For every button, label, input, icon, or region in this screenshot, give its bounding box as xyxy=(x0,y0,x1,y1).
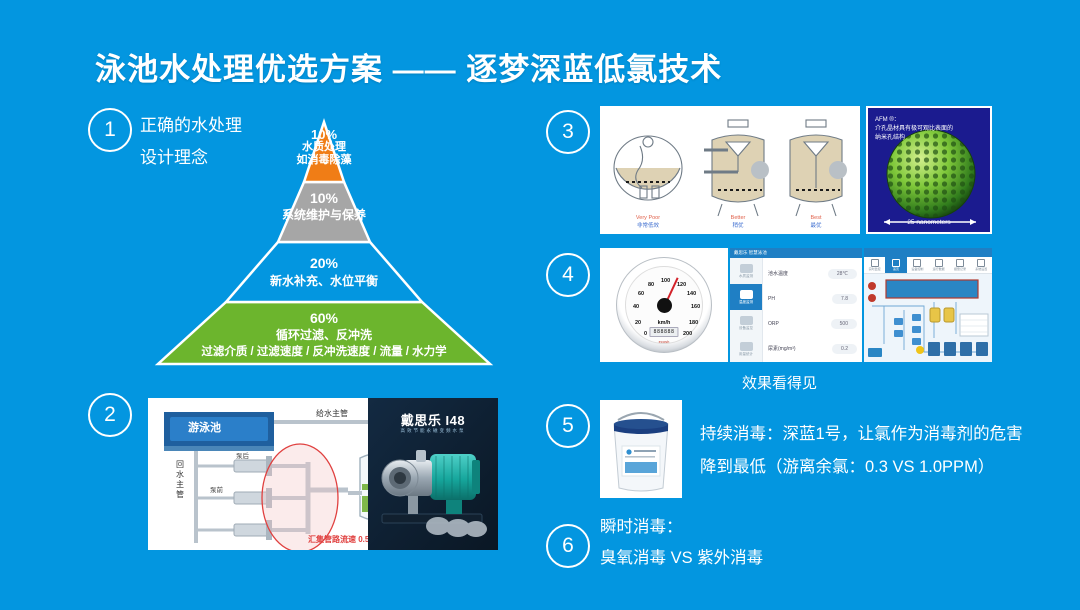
gear-icon xyxy=(977,259,985,267)
controller-side-item-3[interactable]: 用量统计 xyxy=(730,336,762,362)
scada-system-image: 实时监控 首页 设备控制 运行数据 报警记录 系统设置 xyxy=(864,248,992,362)
supply-main-label: 给水主管 xyxy=(316,408,348,419)
controller-row-key: ORP xyxy=(768,321,779,327)
controller-row: PH 7.8 xyxy=(768,286,857,311)
gauge-tick-0: 0 xyxy=(644,331,647,337)
step-number-5[interactable]: 5 xyxy=(546,404,590,448)
chart-icon xyxy=(740,342,753,351)
controller-row-key: PH xyxy=(768,296,775,302)
controller-side-label-3: 用量统计 xyxy=(739,352,753,357)
step-number-1[interactable]: 1 xyxy=(88,108,132,152)
afm-nanostructure-image: AFM ®： 介孔晶材具有极可观比表面的 纳米孔结构 25 nanometers xyxy=(866,106,992,234)
panel6-text: 瞬时消毒： 臭氧消毒 VS 紫外消毒 xyxy=(600,512,763,574)
panel5-line1: 持续消毒：深蓝1号，让氯作为消毒剂的危害 xyxy=(700,418,1023,451)
controller-header: 戴思乐 智慧泳池 xyxy=(730,248,862,258)
gauge-brand-label: ecosh xyxy=(617,339,711,344)
gauge-unit-label: km/h xyxy=(617,320,711,326)
page-title: 泳池水处理优选方案 —— 逐梦深蓝低氯技术 xyxy=(95,44,722,89)
panel4-caption: 效果看得见 xyxy=(742,372,817,393)
gauge-tick-160: 160 xyxy=(691,304,700,310)
pump-brand-label: 戴思乐 I48 xyxy=(368,410,498,429)
controller-row-key: 池水温度 xyxy=(768,270,788,277)
scada-tab-bar[interactable]: 实时监控 首页 设备控制 运行数据 报警记录 系统设置 xyxy=(864,257,992,274)
gauge-hub xyxy=(657,298,672,313)
controller-side-item-0[interactable]: 水质监测 xyxy=(730,258,762,284)
gauge-tick-120: 120 xyxy=(677,282,686,288)
thermometer-icon xyxy=(740,290,753,299)
step-number-6[interactable]: 6 xyxy=(546,524,590,568)
pool-label: 游泳池 xyxy=(188,419,221,435)
scada-tab-label-0: 实时监控 xyxy=(869,267,881,271)
filter-label-best: Best 最优 xyxy=(786,214,846,230)
filter-label-very-poor: Very Poor 非常低效 xyxy=(618,214,678,230)
step-number-2-text: 2 xyxy=(104,403,116,427)
gauge-tick-100: 100 xyxy=(661,278,670,284)
filter-label-best-en: Best xyxy=(786,214,846,222)
afm-desc-line2: 纳米孔结构 xyxy=(875,134,985,143)
gauge-dial: 20 40 60 80 100 120 140 160 180 200 0 km… xyxy=(616,257,712,353)
controller-row-value: 7.8 xyxy=(832,294,857,304)
filter-label-better-cn: 稍优 xyxy=(708,222,768,230)
scada-tab-2[interactable]: 设备控制 xyxy=(907,257,928,273)
scada-tab-3[interactable]: 运行数据 xyxy=(928,257,949,273)
disinfectant-bucket-image xyxy=(600,400,682,498)
scada-tab-label-2: 设备控制 xyxy=(911,267,923,271)
filter-label-better-en: Better xyxy=(708,214,768,222)
scada-tab-label-5: 系统设置 xyxy=(975,267,987,271)
monitor-icon xyxy=(871,259,879,267)
controller-side-item-1[interactable]: 温度监测 xyxy=(730,284,762,310)
scada-tab-5[interactable]: 系统设置 xyxy=(971,257,992,273)
gauge-odometer: 888888 xyxy=(649,327,678,337)
afm-desc-line1: 介孔晶材具有极可观比表面的 xyxy=(875,125,985,134)
slide-root: 泳池水处理优选方案 —— 逐梦深蓝低氯技术 1 正确的水处理 设计理念 10% … xyxy=(0,0,1080,610)
device-icon xyxy=(740,316,753,325)
pump-product-image: 戴思乐 I48 高效节能永磁变频水泵 xyxy=(368,398,498,550)
controller-row-key: 尿素(mg/m³) xyxy=(768,345,796,352)
step-number-2[interactable]: 2 xyxy=(88,393,132,437)
scada-process-diagram xyxy=(864,274,992,362)
step-number-1-text: 1 xyxy=(104,118,116,142)
panel6-line2: 臭氧消毒 VS 紫外消毒 xyxy=(600,543,763,574)
water-treatment-pyramid: 10% 水质处理 如消毒除藻 10% 系统维护与保养 20% 新水补充、水位平衡… xyxy=(148,112,500,374)
gauge-tick-140: 140 xyxy=(687,291,696,297)
controller-body: 水质监测 温度监测 设备监控 用量统计 池水温度 28℃ xyxy=(730,258,862,362)
gauge-tick-200: 200 xyxy=(683,331,692,337)
list-icon xyxy=(935,259,943,267)
alarm-icon xyxy=(956,259,964,267)
controller-row: 尿素(mg/m³) 0.2 xyxy=(768,336,857,361)
return-main-label: 回水主管 xyxy=(176,460,185,500)
step-number-3-text: 3 xyxy=(562,120,574,144)
scada-tab-4[interactable]: 报警记录 xyxy=(949,257,970,273)
filter-label-very-poor-en: Very Poor xyxy=(618,214,678,222)
filter-label-better: Better 稍优 xyxy=(708,214,768,230)
controller-row-value: 500 xyxy=(831,319,857,329)
speedometer-gauge-image: 20 40 60 80 100 120 140 160 180 200 0 km… xyxy=(600,248,728,362)
pump-after-label: 泵后 xyxy=(236,450,249,460)
pump-brand-sub-label: 高效节能永磁变频水泵 xyxy=(368,428,498,434)
scada-tab-label-3: 运行数据 xyxy=(933,267,945,271)
scada-tab-1[interactable]: 首页 xyxy=(885,257,906,273)
step-number-4-text: 4 xyxy=(562,263,574,287)
monitor-icon xyxy=(740,264,753,273)
afm-description: AFM ®： 介孔晶材具有极可观比表面的 纳米孔结构 xyxy=(875,116,985,143)
scada-tab-label-1: 首页 xyxy=(893,267,899,271)
controller-side-label-0: 水质监测 xyxy=(739,274,753,279)
panel5-line2: 降到最低（游离余氯：0.3 VS 1.0PPM） xyxy=(700,451,1023,484)
step-number-3[interactable]: 3 xyxy=(546,110,590,154)
filter-media-comparison-image: Very Poor 非常低效 Better 稍优 Best 最优 xyxy=(600,106,860,234)
gauge-tick-80: 80 xyxy=(648,282,654,288)
controller-row-value: 28℃ xyxy=(828,269,857,279)
afm-title: AFM ®： xyxy=(875,116,985,125)
controller-row-value: 0.2 xyxy=(832,344,857,354)
scada-tab-0[interactable]: 实时监控 xyxy=(864,257,885,273)
gauge-tick-40: 40 xyxy=(633,304,639,310)
filter-label-best-cn: 最优 xyxy=(786,222,846,230)
controller-side-item-2[interactable]: 设备监控 xyxy=(730,310,762,336)
control-icon xyxy=(913,259,921,267)
filter-label-very-poor-cn: 非常低效 xyxy=(618,222,678,230)
pump-before-label: 泵前 xyxy=(210,484,223,494)
water-quality-controller-image: 戴思乐 智慧泳池 水质监测 温度监测 设备监控 用量统计 xyxy=(730,248,862,362)
controller-side-label-2: 设备监控 xyxy=(739,326,753,331)
step-number-5-text: 5 xyxy=(562,414,574,438)
controller-sidebar[interactable]: 水质监测 温度监测 设备监控 用量统计 xyxy=(730,258,763,362)
gauge-tick-60: 60 xyxy=(638,291,644,297)
scada-tab-label-4: 报警记录 xyxy=(954,267,966,271)
step-number-4[interactable]: 4 xyxy=(546,253,590,297)
afm-scale-label: 25 nanometers xyxy=(868,219,990,226)
panel5-text: 持续消毒：深蓝1号，让氯作为消毒剂的危害 降到最低（游离余氯：0.3 VS 1.… xyxy=(700,418,1023,484)
controller-row: 池水温度 28℃ xyxy=(768,261,857,286)
panel6-line1: 瞬时消毒： xyxy=(600,512,763,543)
home-icon xyxy=(892,259,900,267)
scada-header xyxy=(864,248,992,257)
controller-row: ORP 500 xyxy=(768,311,857,336)
controller-readout-list: 池水温度 28℃ PH 7.8 ORP 500 尿素(mg/m³) 0.2 xyxy=(763,258,862,362)
controller-side-label-1: 温度监测 xyxy=(739,300,753,305)
step-number-6-text: 6 xyxy=(562,534,574,558)
